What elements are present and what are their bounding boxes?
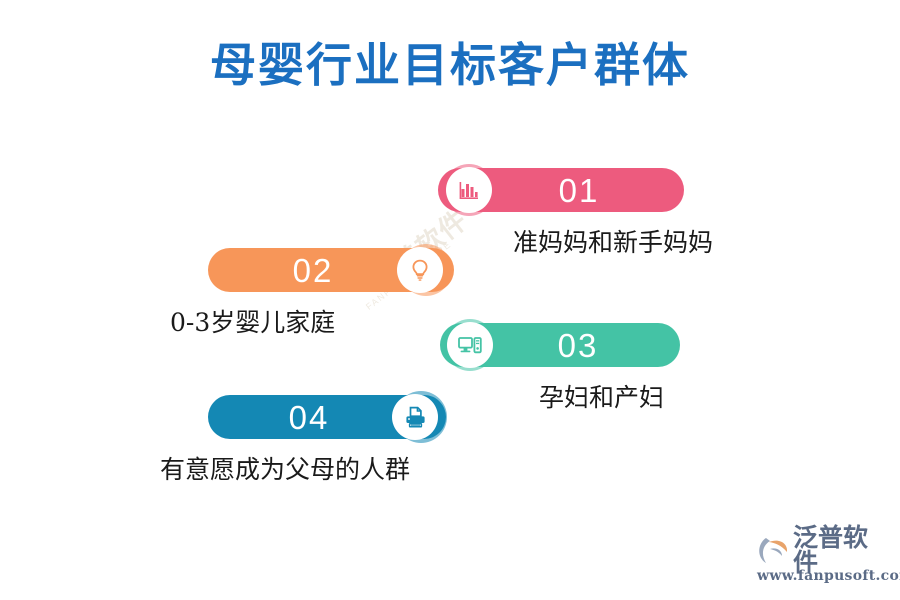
printer-icon[interactable] xyxy=(392,394,438,440)
step-number: 01 xyxy=(559,174,600,207)
step-caption: 有意愿成为父母的人群 xyxy=(160,457,410,482)
infographic-canvas: 母婴行业目标客户群体 泛普软件 FANPU SOFTWARE 01 准妈妈和新手… xyxy=(0,0,900,600)
brand-logo: 泛普软件 www.fanpusoft.com xyxy=(757,534,892,586)
page-title: 母婴行业目标客户群体 xyxy=(0,38,900,93)
step-number: 02 xyxy=(293,254,334,287)
step-number: 03 xyxy=(558,329,599,362)
bar-chart-icon[interactable] xyxy=(446,167,492,213)
step-number: 04 xyxy=(289,401,330,434)
desktop-computer-icon[interactable] xyxy=(447,322,493,368)
brand-logo-icon xyxy=(757,535,791,565)
lightbulb-icon[interactable] xyxy=(397,247,443,293)
brand-url: www.fanpusoft.com xyxy=(757,568,892,584)
list-item: 04 有意愿成为父母的人群 xyxy=(0,395,900,489)
